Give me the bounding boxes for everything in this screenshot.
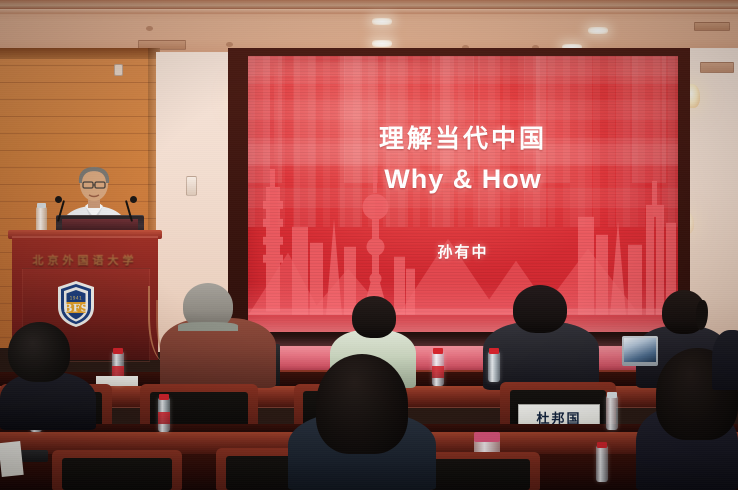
microphone-right-head — [130, 196, 137, 203]
thermos-flask-cap — [474, 432, 500, 442]
water-bottle-row2-b-label — [432, 366, 444, 378]
attendee-center-dark-head — [513, 285, 567, 333]
water-bottle-row2-c[interactable] — [488, 352, 500, 382]
attendee-pale-shirt-head — [352, 296, 396, 338]
wall-sensor-icon — [114, 64, 123, 76]
lecture-hall-photo: 理解当代中国 Why & How 孙有中 — [0, 0, 738, 490]
smartphone-on-desk[interactable] — [20, 450, 48, 462]
water-bottle-front-b-cap — [159, 394, 169, 400]
attendee-gray-hair-collar — [178, 322, 238, 331]
chair-front-right-pad — [430, 459, 530, 490]
ceiling-light-3 — [588, 27, 608, 34]
projection-screen: 理解当代中国 Why & How 孙有中 — [248, 56, 678, 332]
ceiling-beam-secondary — [0, 9, 738, 14]
water-bottle-row2-c-cap — [489, 348, 499, 354]
ceiling-light-1 — [372, 18, 392, 25]
water-bottle-front-c-cap — [607, 392, 617, 398]
laptop-audience-screen — [624, 338, 656, 362]
svg-text:BFS: BFS — [63, 302, 88, 314]
chair-front-left-pad — [62, 458, 172, 490]
smoke-detector-2 — [226, 42, 233, 47]
paper-front-left — [0, 441, 24, 477]
ceiling-vent-right — [694, 22, 730, 31]
attendee-right-shoulder-partial — [712, 330, 738, 390]
screen-bottom-glow — [248, 282, 678, 332]
water-bottle-podium-cap — [37, 203, 46, 208]
smoke-detector-1 — [146, 26, 153, 31]
laptop-audience-right[interactable] — [622, 336, 658, 366]
slide-title-english: Why & How — [248, 164, 678, 195]
svg-text:1941: 1941 — [70, 296, 83, 301]
attendee-left-curly-head — [8, 322, 70, 382]
slide-author-name: 孙有中 — [248, 241, 678, 262]
slide-title-chinese: 理解当代中国 — [248, 119, 678, 155]
wall-vent-right — [700, 62, 734, 73]
water-bottle-front-d[interactable] — [596, 446, 608, 482]
ceiling-beam — [0, 0, 738, 9]
water-bottle-front-b-label — [158, 412, 170, 424]
water-bottle-front-c[interactable] — [606, 396, 618, 430]
bfs-shield-logo-icon: BFS 1941 — [56, 280, 96, 328]
attendee-foreground-long-hair-head — [316, 354, 408, 454]
water-bottle-row2-a-cap — [113, 348, 123, 354]
front-desk-light-reflection — [250, 346, 678, 372]
podium-banner-text: 北京外国语大学 — [12, 252, 158, 268]
water-bottle-row2-b-cap — [433, 348, 443, 354]
water-bottle-front-d-cap — [597, 442, 607, 448]
wall-switch-plate[interactable] — [186, 176, 197, 196]
ceiling-light-2 — [372, 40, 392, 47]
wood-wall-top-trim — [0, 48, 160, 59]
microphone-left-head — [55, 196, 62, 203]
stage-ledge — [228, 332, 690, 346]
